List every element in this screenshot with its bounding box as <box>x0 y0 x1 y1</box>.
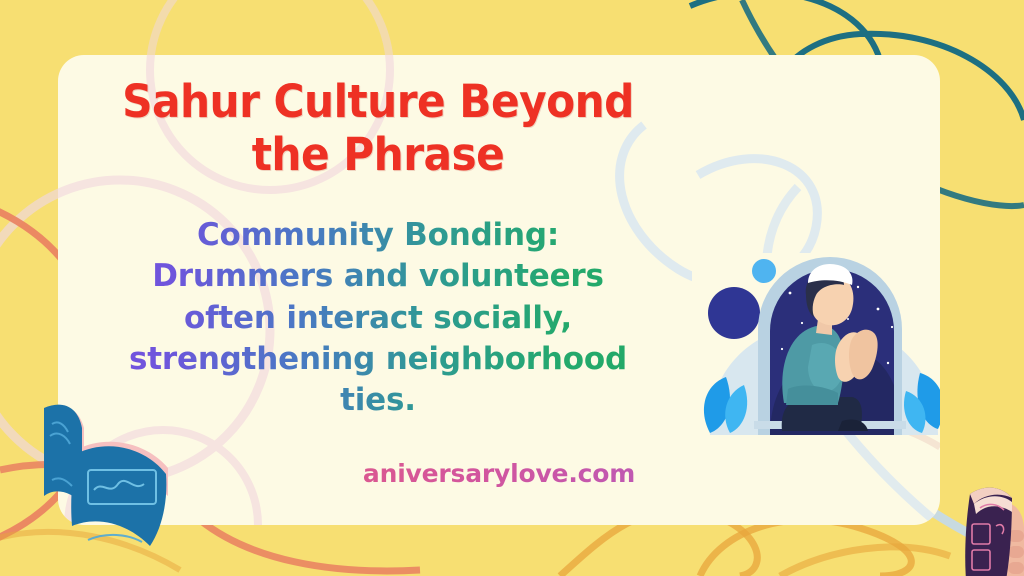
open-book-icon <box>10 392 194 562</box>
body-paragraph: Community Bonding: Drummers and voluntee… <box>58 215 698 421</box>
decor-circle-dark-navy <box>708 287 760 339</box>
praying-man-illustration <box>692 253 940 435</box>
slide-canvas: Sahur Culture Beyond the Phrase Communit… <box>0 0 1024 576</box>
hand-holding-book-icon <box>950 468 1024 576</box>
decor-swirl-orange-3 <box>780 547 950 576</box>
book-cover-right <box>71 446 166 546</box>
page-title: Sahur Culture Beyond the Phrase <box>77 75 679 181</box>
decor-circle-light-blue <box>752 259 776 283</box>
decor-swirl-orange-2 <box>700 520 911 576</box>
